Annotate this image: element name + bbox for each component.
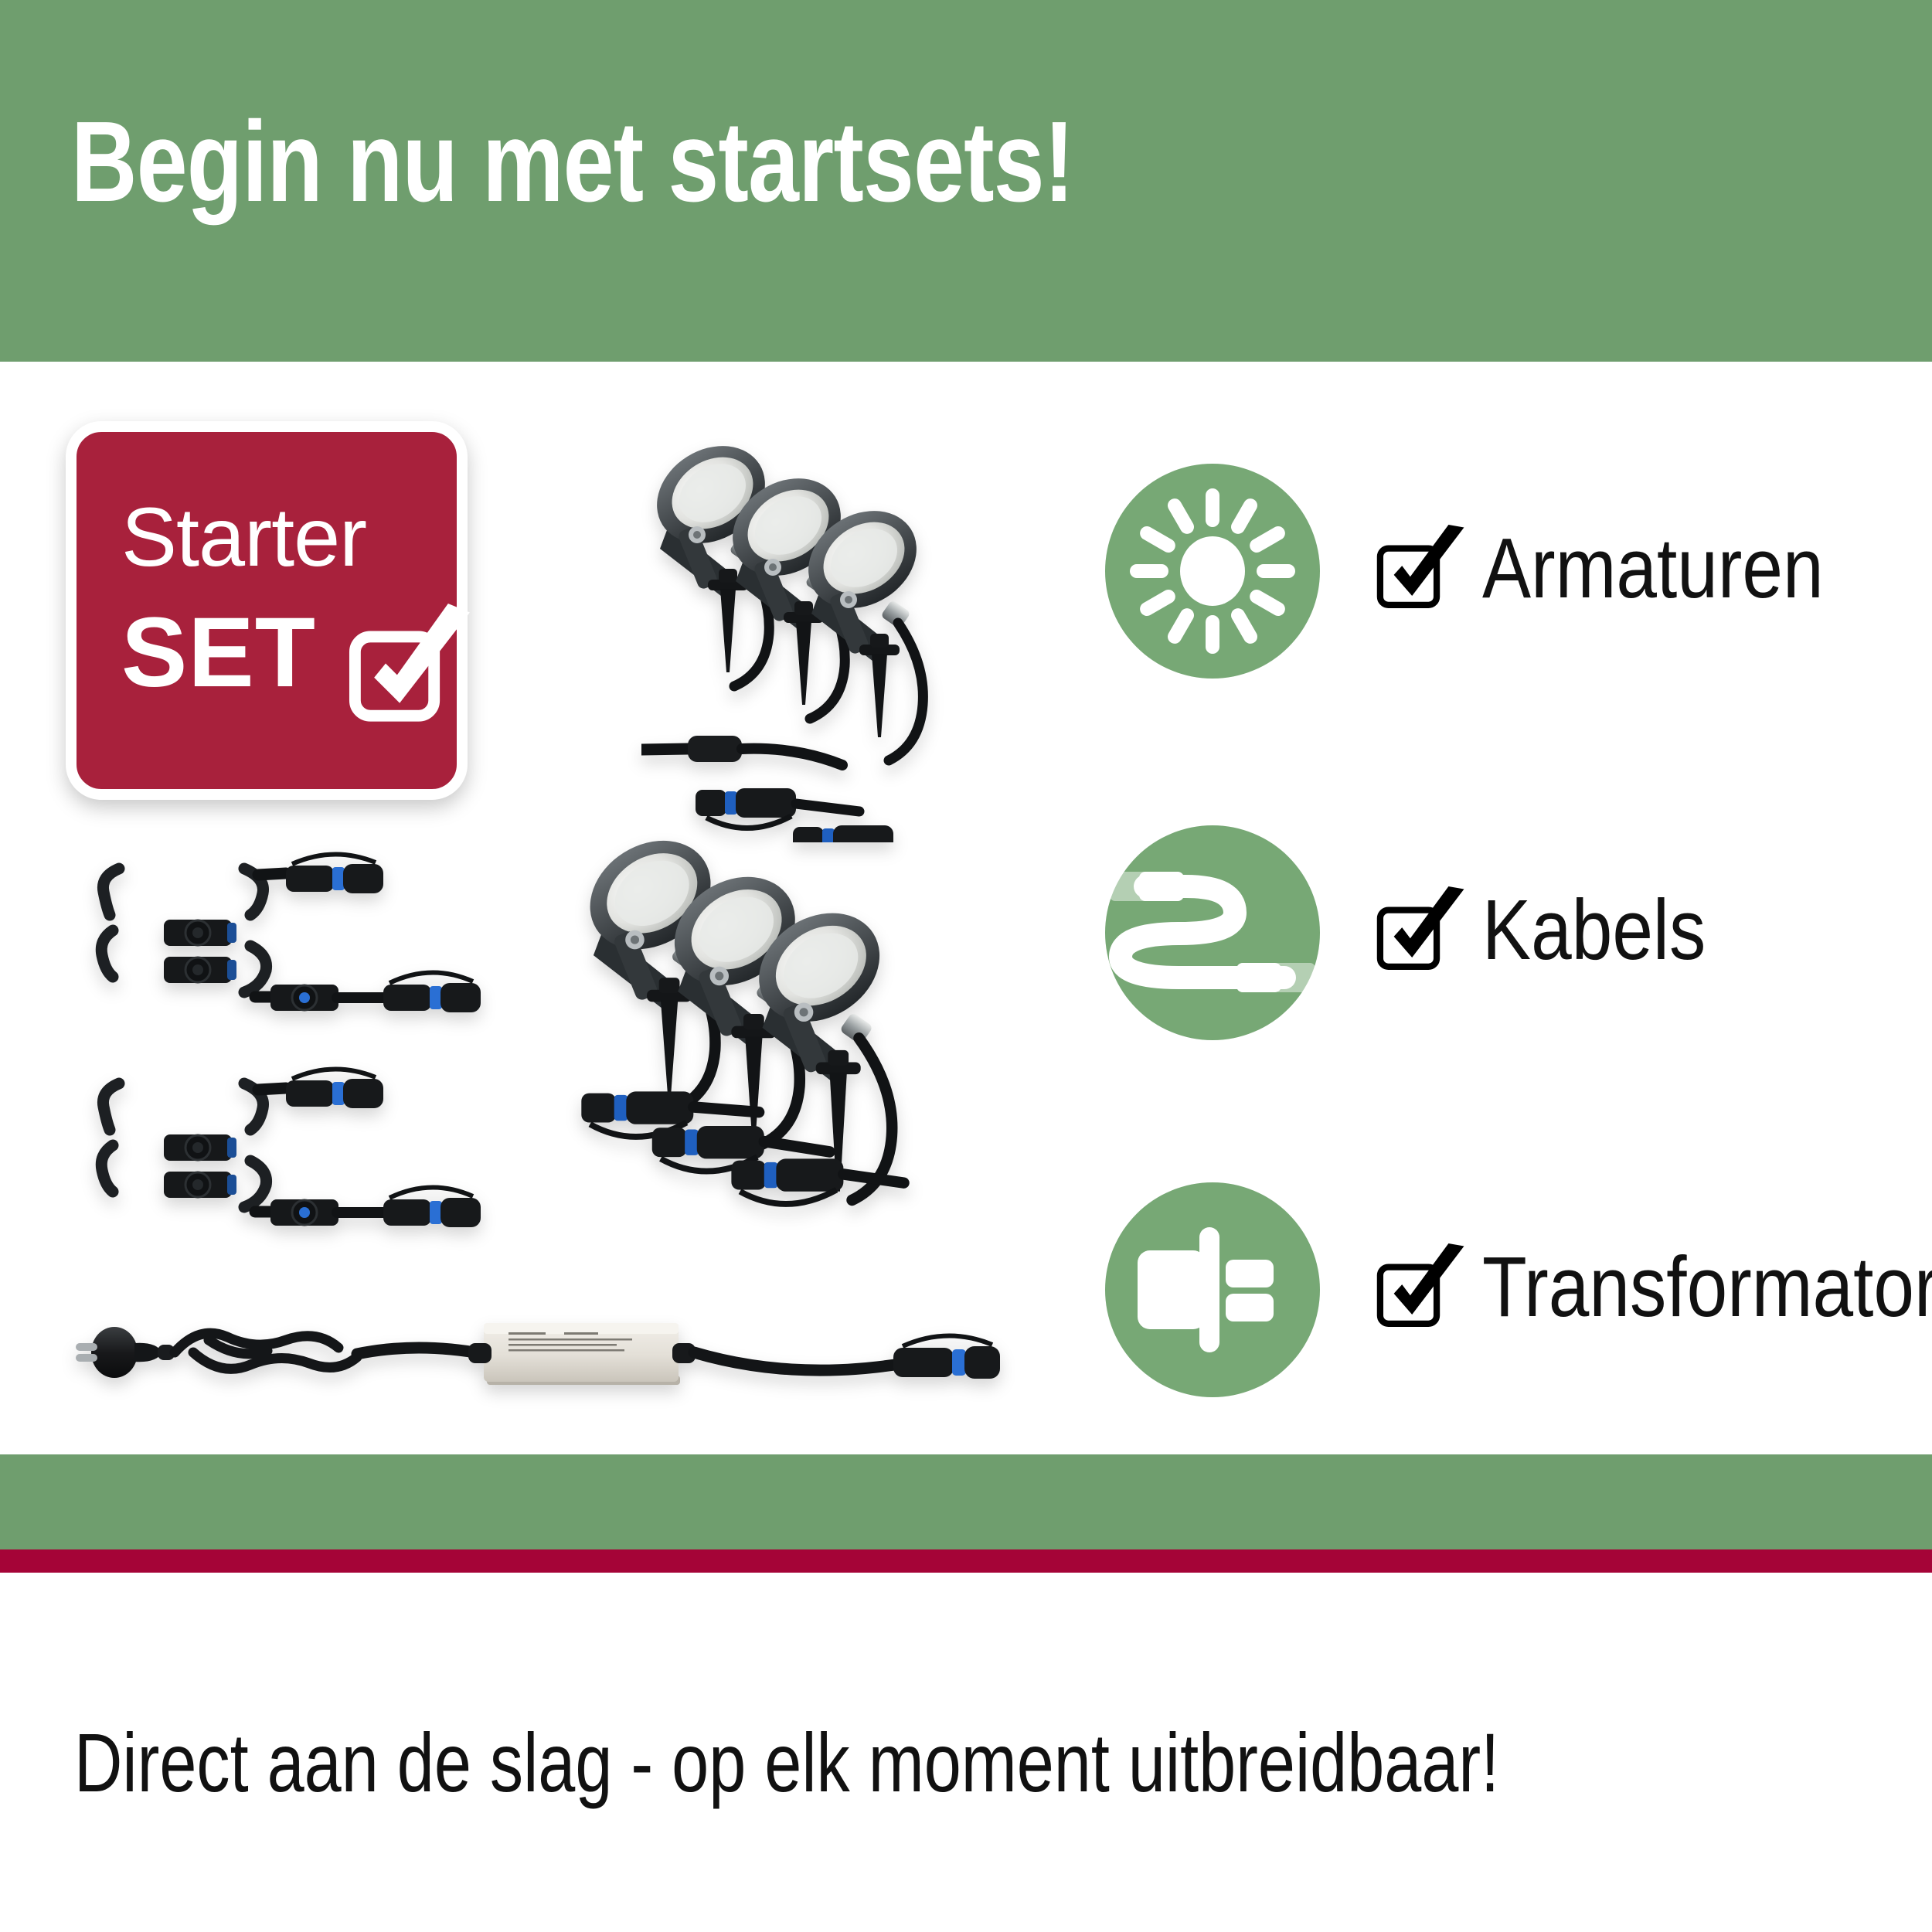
footer-band-green — [0, 1454, 1932, 1549]
badge-line-set: SET — [121, 604, 316, 702]
checkbox-checked-icon — [345, 604, 477, 731]
checkbox-checked-icon — [1376, 524, 1467, 617]
product-spotlights-bottom — [572, 835, 1005, 1283]
product-cable-coil-top — [93, 842, 526, 1059]
product-cable-coil-bottom — [93, 1057, 526, 1274]
page-title: Begin nu met startsets! — [71, 105, 1073, 219]
sun-icon — [1105, 464, 1320, 679]
poster-root: Begin nu met startsets! Starter SET — [0, 0, 1932, 1932]
feature-label: Armaturen — [1482, 515, 1824, 623]
badge-line-starter: Starter — [121, 495, 366, 579]
feature-row-armaturen: Armaturen — [1105, 464, 1932, 696]
footer-band-red — [0, 1549, 1932, 1573]
badge-panel: Starter SET — [66, 421, 468, 800]
feature-label: Kabels — [1482, 876, 1706, 985]
footer-tagline: Direct aan de slag - op elk moment uitbr… — [74, 1717, 1499, 1809]
checkbox-checked-icon — [1376, 886, 1467, 978]
product-spotlights-top — [641, 440, 1028, 842]
checkbox-checked-icon — [1376, 1243, 1467, 1335]
product-transformer — [54, 1306, 1051, 1399]
header-banner: Begin nu met startsets! — [0, 0, 1932, 362]
feature-label: Transformator — [1482, 1233, 1932, 1342]
cable-icon — [1105, 825, 1320, 1040]
plug-icon — [1105, 1182, 1320, 1397]
feature-row-kabels: Kabels — [1105, 825, 1932, 1057]
starter-set-badge: Starter SET — [66, 421, 468, 800]
feature-row-transformator: Transformator — [1105, 1182, 1932, 1414]
